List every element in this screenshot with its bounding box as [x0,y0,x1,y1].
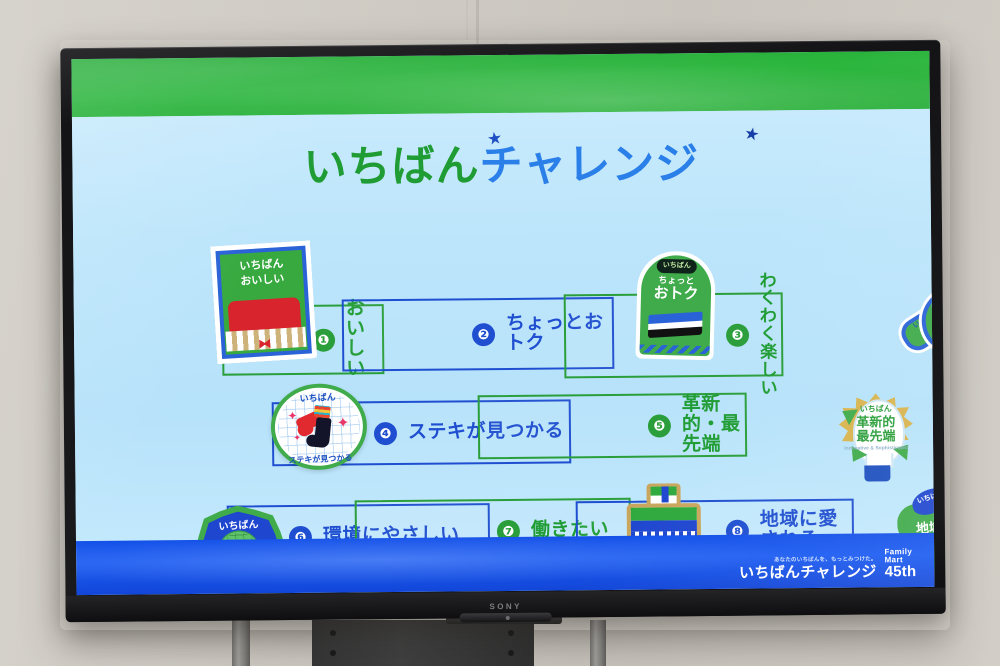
footer-brand: いちばんチャレンジ [739,564,877,580]
sticker-otoku: いちばん ちょっと おトク [635,250,716,360]
item-number-2: ❷ [472,323,495,346]
wall-seam-upper [466,0,468,40]
sticker-5-line4: Innovative & Sophisticated [837,446,915,452]
sticker-2-badge: いちばん [657,259,697,274]
logo-line-1: Family [884,548,916,556]
sticker-oishii: いちばん おいしい [210,240,317,364]
item-number-5: ❺ [648,414,671,437]
item-box-5: ❺ 革新的・最先端 [478,393,748,460]
display-screen: いちばんチャレンジ ★ ★ ❶ おいしい ❷ ちょっとおトク ❸ わくわく 楽し… [71,51,934,595]
sticker-2-line2: おトク [637,285,715,302]
sticker-wakuwaku: いちばん わくわく 楽しい [895,279,935,368]
logo-line-3: 45th [885,564,917,579]
slide-bottom-blue-band: あなたのいちばんを、もっとみつけた。 いちばんチャレンジ Family Mart… [76,533,934,595]
sticker-kakushinteki: いちばん 革新的 最先端 Innovative & Sophisticated [837,391,916,490]
sticker-5-line3: 最先端 [837,429,915,443]
footer-tagline: あなたのいちばんを、もっとみつけた。 [739,554,877,563]
items-area: ❶ おいしい ❷ ちょっとおトク ❸ わくわく 楽しい ❹ ステキが見つかる ❺ [71,51,934,595]
sandwich-icon [648,313,703,340]
item-label-3: わくわく 楽しい [759,272,781,397]
sticker-5-line2: 革新的 [837,415,915,429]
television: いちばんチャレンジ ★ ★ ❶ おいしい ❷ ちょっとおトク ❸ わくわく 楽し… [60,40,945,622]
familymart-45th-logo: Family Mart 45th [884,548,916,579]
item-label-5: 革新的・最先端 [682,395,746,455]
sticker-2-badge-pill: いちばん [657,259,697,274]
screenshot-root: いちばんチャレンジ ★ ★ ❶ おいしい ❷ ちょっとおトク ❸ わくわく 楽し… [0,0,1000,666]
tv-stand-right-post [590,620,606,666]
item-number-4: ❹ [374,422,397,445]
ir-sensor-bar [460,613,552,623]
sticker-suteki: ✦✦✦ いちばん ステキが見つかる [269,382,369,472]
tv-stand-left-post [232,620,250,666]
item-number-3: ❸ [726,323,749,346]
tv-stand-center-panel [312,620,534,666]
footer-branding: あなたのいちばんを、もっとみつけた。 いちばんチャレンジ Family Mart… [739,548,917,581]
sticker-5-line1: いちばん [837,405,915,414]
logo-line-2: Mart [885,556,917,564]
